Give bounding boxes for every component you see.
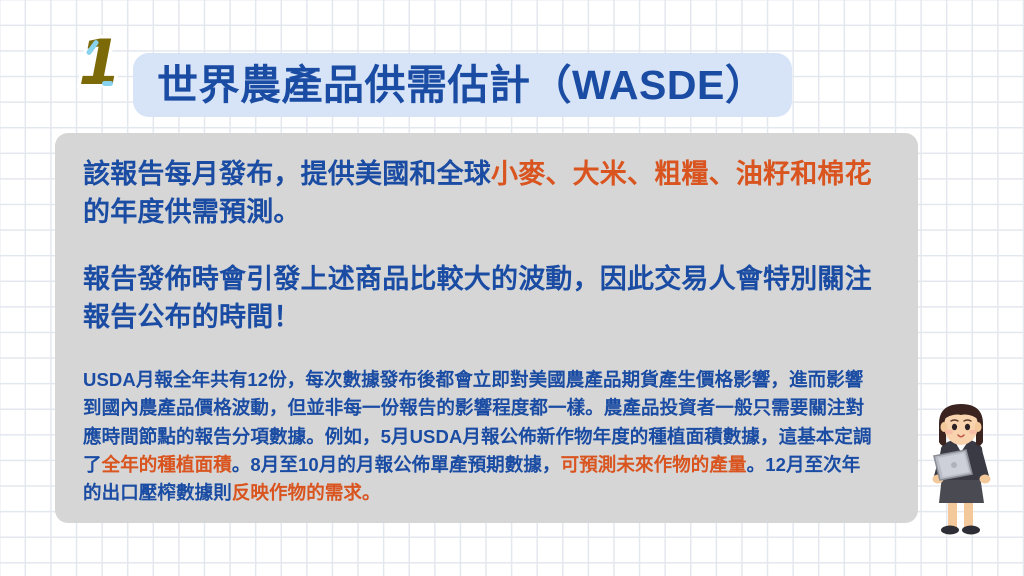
- page-title: 世界農產品供需估計（WASDE）: [157, 65, 766, 106]
- text-run-1: 報告發佈時會引發上述商品比較大的波動，因此交易人會特別關注報告公布的時間！: [83, 264, 872, 332]
- content-card: 該報告每月發布，提供美國和全球小麥、大米、粗糧、油籽和棉花的年度供需預測。 報告…: [55, 133, 918, 523]
- text-run-1: 該報告每月發布，提供美國和全球: [83, 159, 491, 189]
- title-pill: 世界農產品供需估計（WASDE）: [133, 53, 792, 117]
- text-run-3: 的年度供需預測。: [83, 197, 301, 227]
- text-run-3: 。8月至10月的月報公佈單產預期數據，: [232, 454, 561, 475]
- text-run-4: 可預測未來作物的產量: [561, 454, 747, 475]
- slide-number-text: 1: [78, 32, 121, 94]
- paragraph-1: 該報告每月發布，提供美國和全球小麥、大米、粗糧、油籽和棉花的年度供需預測。: [83, 155, 890, 232]
- businesswoman-illustration: [914, 400, 1008, 540]
- paragraph-2: 報告發佈時會引發上述商品比較大的波動，因此交易人會特別關注報告公布的時間！: [83, 260, 890, 337]
- paragraph-3: USDA月報全年共有12份，每次數據發布後都會立即對美國農產品期貨產生價格影響，…: [83, 366, 890, 507]
- text-run-2: 小麥、大米、粗糧、油籽和棉花: [491, 159, 872, 189]
- text-run-2: 全年的種植面積: [102, 454, 232, 475]
- text-run-6: 反映作物的需求。: [232, 482, 381, 503]
- slide-number-badge: 1: [72, 26, 128, 100]
- slide-header: 1 世界農產品供需估計（WASDE）: [0, 22, 1024, 102]
- number-highlight-accent-bottom-icon: [102, 81, 113, 86]
